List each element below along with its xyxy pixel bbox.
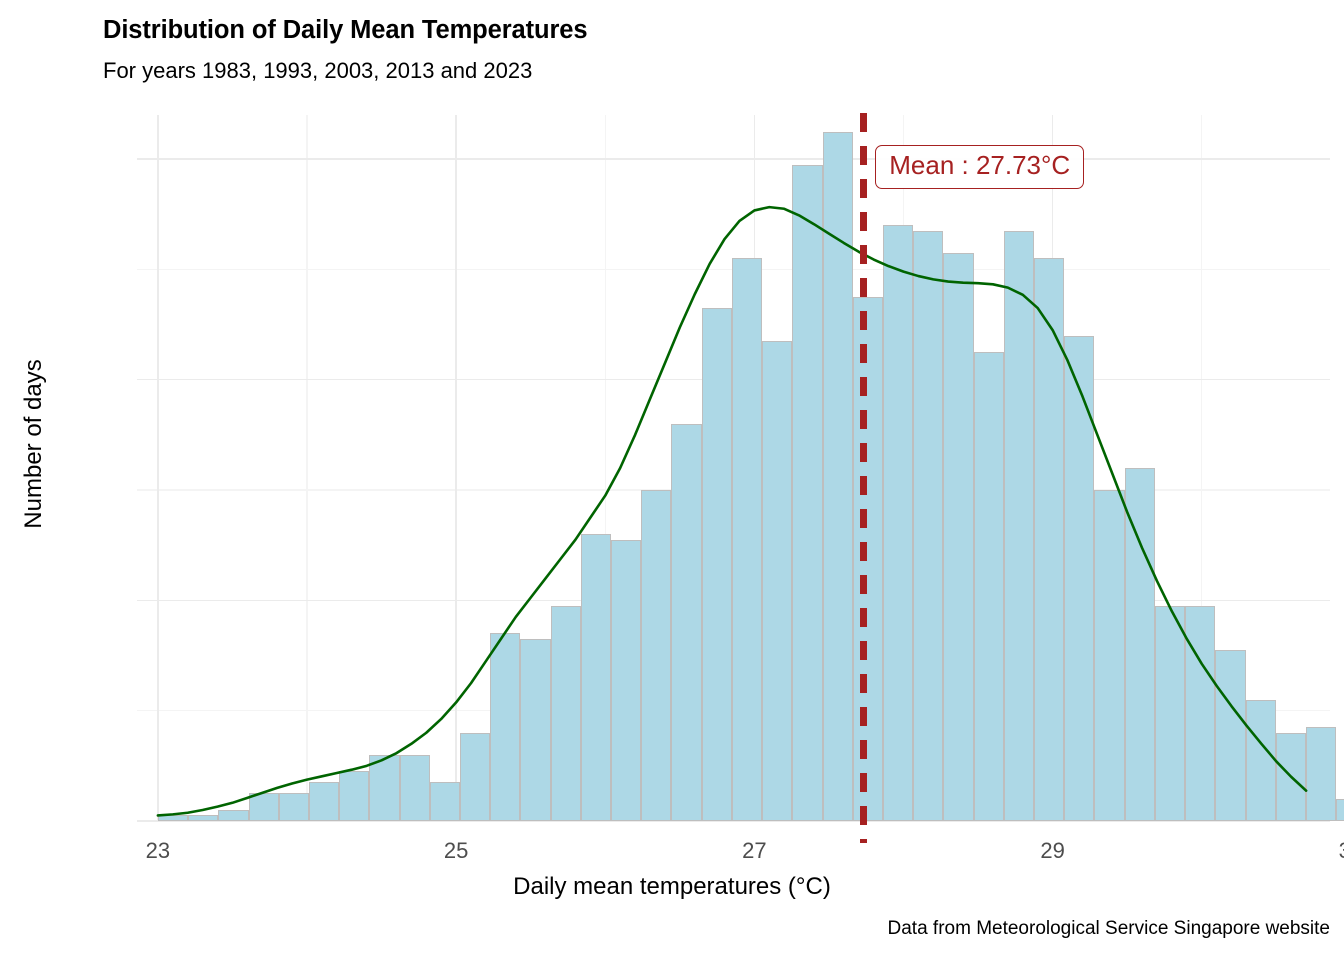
- chart-subtitle: For years 1983, 1993, 2003, 2013 and 202…: [103, 58, 532, 84]
- x-tick-label: 25: [416, 838, 496, 864]
- plot-panel: Mean : 27.73°C: [137, 115, 1330, 821]
- x-tick-label: 31: [1311, 838, 1344, 864]
- x-tick-label: 23: [118, 838, 198, 864]
- histogram-bar: [1336, 799, 1344, 821]
- y-axis-title: Number of days: [20, 244, 48, 644]
- x-tick-label: 27: [714, 838, 794, 864]
- x-axis-title: Daily mean temperatures (°C): [0, 873, 1344, 901]
- mean-reference-line: [860, 113, 867, 843]
- density-curve: [137, 115, 1330, 821]
- mean-annotation-label: Mean : 27.73°C: [875, 145, 1084, 188]
- chart-caption: Data from Meteorological Service Singapo…: [888, 918, 1331, 940]
- x-tick-label: 29: [1013, 838, 1093, 864]
- chart-container: Distribution of Daily Mean Temperatures …: [0, 0, 1344, 960]
- page-title: Distribution of Daily Mean Temperatures: [103, 16, 587, 45]
